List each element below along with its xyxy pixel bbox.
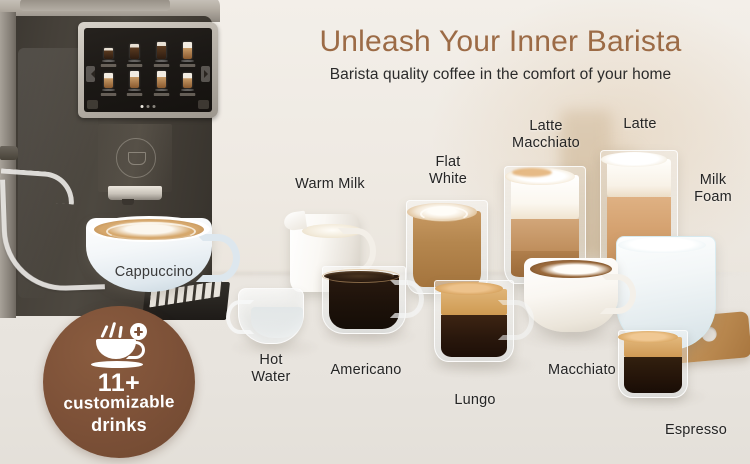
badge-line-1: customizable [43, 391, 195, 415]
badge-line-2: drinks [43, 414, 195, 436]
screen-drink-label [180, 64, 196, 67]
cup-handle [600, 274, 636, 314]
screen-drink-lungo[interactable] [122, 38, 147, 67]
plus-icon [130, 323, 147, 340]
drink-espresso: Espresso [614, 330, 696, 408]
jug-spout [283, 211, 307, 232]
screen-drink-label [153, 64, 169, 67]
screen-drink-label [153, 93, 169, 96]
drink-glyph [130, 71, 139, 88]
crema-surface [618, 331, 678, 343]
screen-drink-espresso[interactable] [96, 38, 121, 67]
coffee-liquid [413, 211, 481, 287]
drink-glyph [130, 44, 139, 59]
screen-drink-cappuccino[interactable] [175, 38, 200, 67]
page-subtitle: Barista quality coffee in the comfort of… [268, 65, 733, 84]
crema-surface [435, 282, 503, 295]
cup-rim [322, 269, 400, 283]
headline-block: Unleash Your Inner Barista Barista quali… [268, 24, 733, 84]
screen-drink-label [101, 64, 117, 67]
screen-page-dots[interactable] [141, 105, 156, 108]
screen-drink-flat-white[interactable] [175, 68, 200, 97]
drink-americano: Americano [318, 266, 414, 348]
machine-side-rail [0, 12, 16, 318]
drink-glyph [104, 73, 113, 88]
saucer-glyph [128, 60, 141, 62]
chevron-left-icon[interactable] [86, 66, 95, 82]
screen-drink-americano[interactable] [149, 38, 174, 67]
screen-drink-label [101, 93, 117, 96]
drink-hot-water: Hot Water [232, 288, 310, 350]
page-dot-3[interactable] [153, 105, 156, 108]
page-dot-1[interactable] [141, 105, 144, 108]
dispenser-nozzle [122, 199, 134, 205]
crema-surface [530, 260, 612, 278]
foam-surface [618, 237, 706, 253]
screen-drink-label [180, 93, 196, 96]
page-title: Unleash Your Inner Barista [268, 24, 733, 60]
caramel-drizzle [512, 168, 552, 177]
coffee-layer [511, 219, 579, 251]
drink-label-flat-white: Flat White [404, 154, 492, 188]
screen-drink-label [127, 64, 143, 67]
drink-label-cappuccino: Cappuccino [104, 264, 204, 281]
glass-handle [226, 300, 254, 334]
coffee-liquid [624, 357, 682, 393]
saucer-glyph [155, 89, 168, 91]
saucer-glyph [102, 89, 115, 91]
latte-art [420, 206, 468, 222]
machine-screen-bezel [78, 22, 218, 118]
screen-drink-latte[interactable] [122, 68, 147, 97]
machine-bean-hopper-lid [20, 0, 170, 11]
drink-glyph [183, 73, 192, 88]
machine-dispenser [98, 124, 172, 192]
saucer-glyph [155, 60, 168, 62]
drink-cappuccino: Cappuccino [86, 218, 226, 304]
machine-side-knob[interactable] [0, 146, 18, 160]
drink-label-espresso: Espresso [648, 422, 744, 439]
drink-label-warm-milk: Warm Milk [280, 176, 380, 193]
water-liquid [251, 307, 303, 338]
latte-art [106, 222, 196, 241]
screen-button-bottom-left[interactable] [87, 100, 98, 109]
product-banner: Unleash Your Inner Barista Barista quali… [0, 0, 750, 464]
drink-glyph [183, 42, 192, 59]
cup-handle [390, 280, 424, 318]
screen-drink-macchiato[interactable] [96, 68, 121, 97]
chevron-right-icon[interactable] [201, 66, 210, 82]
saucer-glyph [102, 60, 115, 62]
cup-glyph [96, 339, 136, 359]
drink-glyph [104, 48, 113, 59]
screen-drink-latte-macchiato[interactable] [149, 68, 174, 97]
steam-icon [102, 322, 128, 339]
foam-surface [601, 152, 667, 167]
coffee-bean-emblem [116, 138, 156, 178]
coffee-liquid [329, 275, 399, 329]
drink-label-latte: Latte [598, 116, 682, 133]
customizable-drinks-badge: 11+ customizable drinks [43, 306, 195, 458]
screen-button-bottom-right[interactable] [198, 100, 209, 109]
drink-lungo: Lungo [430, 280, 522, 372]
page-dot-2[interactable] [147, 105, 150, 108]
drink-label-milk-foam: Milk Foam [682, 172, 744, 206]
saucer-glyph [128, 89, 141, 91]
drink-glyph [157, 71, 166, 88]
drink-glyph [157, 42, 166, 59]
saucer-glyph [181, 60, 194, 62]
drink-label-latte-macchiato: Latte Macchiato [494, 118, 598, 152]
coffee-cup-plus-icon [90, 323, 148, 369]
glass-handle [498, 300, 534, 340]
dispenser-spout [108, 186, 162, 200]
machine-touchscreen[interactable] [84, 28, 212, 112]
drink-label-lungo: Lungo [430, 392, 520, 409]
screen-drink-label [127, 93, 143, 96]
drink-label-americano: Americano [320, 362, 412, 379]
saucer-glyph [181, 89, 194, 91]
screen-drink-grid [96, 38, 200, 96]
saucer-glyph [91, 361, 143, 368]
drink-label-hot-water: Hot Water [228, 352, 314, 386]
